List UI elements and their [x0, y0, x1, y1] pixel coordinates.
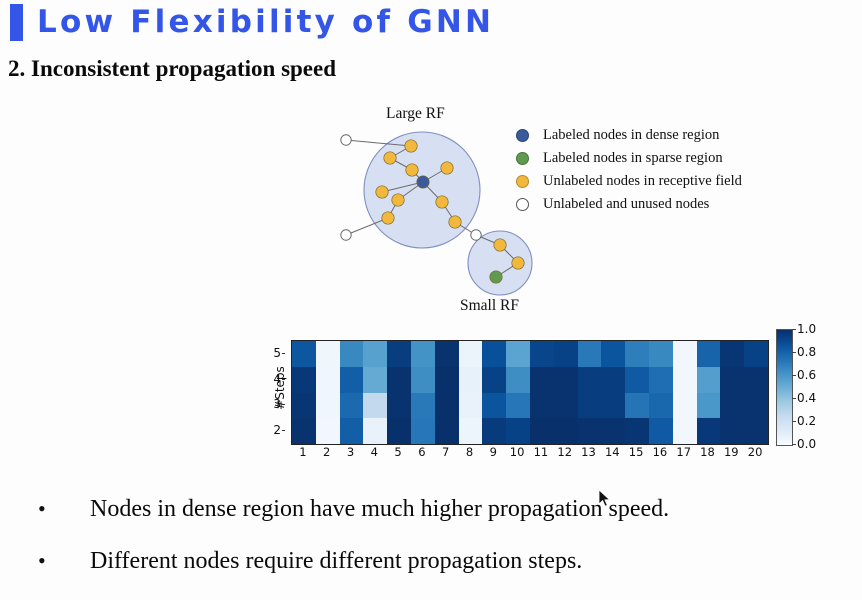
heatmap-cell [316, 418, 340, 444]
heatmap-x-tick: 17 [672, 445, 696, 459]
heatmap-y-tick-mark [282, 353, 285, 354]
colorbar-ticks: 1.00.80.60.40.20.0 [792, 329, 836, 444]
colorbar-tick-mark [792, 329, 796, 330]
heatmap-x-tick: 9 [481, 445, 505, 459]
propagation-heatmap-figure: #Steps 5432 1234567891011121314151617181… [255, 325, 855, 470]
colorbar-tick-mark [792, 444, 796, 445]
legend-item-label: Unlabeled and unused nodes [543, 196, 709, 213]
bullet-item-1: •Different nodes require different propa… [38, 546, 828, 576]
heatmap-cell [340, 367, 364, 393]
slide-title-row: Low Flexibility of GNN [10, 4, 494, 41]
heatmap-cell [411, 341, 435, 367]
colorbar-tick-label: 0.2 [797, 414, 816, 428]
heatmap-cell [578, 418, 602, 444]
page-title: Low Flexibility of GNN [37, 4, 494, 41]
heatmap-cell [363, 393, 387, 419]
graph-node-unlabeled-receptive [494, 239, 506, 251]
legend-item-label: Unlabeled nodes in receptive field [543, 173, 742, 190]
colorbar-tick-label: 0.8 [797, 345, 816, 359]
heatmap-cell [459, 393, 483, 419]
slide-subtitle: 2. Inconsistent propagation speed [8, 56, 336, 82]
graph-node-unlabeled-receptive [384, 152, 396, 164]
heatmap-cell [316, 341, 340, 367]
heatmap-cell [625, 393, 649, 419]
heatmap-cell [387, 418, 411, 444]
heatmap-y-tick-mark [282, 379, 285, 380]
heatmap-cell [387, 341, 411, 367]
heatmap-x-tick: 1 [291, 445, 315, 459]
colorbar-tick-label: 0.4 [797, 391, 816, 405]
legend-swatch-icon [516, 175, 529, 188]
heatmap-cell [340, 418, 364, 444]
heatmap-grid [291, 340, 769, 445]
heatmap-cell [459, 367, 483, 393]
colorbar-tick-mark [792, 421, 796, 422]
heatmap-cell [316, 367, 340, 393]
graph-node-unlabeled-receptive [436, 196, 448, 208]
heatmap-x-tick: 12 [553, 445, 577, 459]
heatmap-x-tick: 14 [600, 445, 624, 459]
heatmap-x-tick: 18 [696, 445, 720, 459]
heatmap-cell [411, 393, 435, 419]
heatmap-x-tick: 11 [529, 445, 553, 459]
heatmap-cell [340, 341, 364, 367]
heatmap-cell [506, 341, 530, 367]
large-rf-label: Large RF [386, 105, 445, 123]
legend-swatch-icon [516, 198, 529, 211]
graph-node-unlabeled-receptive [406, 164, 418, 176]
heatmap-cell [506, 393, 530, 419]
heatmap-cell [744, 341, 768, 367]
heatmap-x-tick: 7 [434, 445, 458, 459]
heatmap-cell [625, 341, 649, 367]
colorbar-gradient-strip [776, 329, 793, 446]
heatmap-cell [578, 367, 602, 393]
heatmap-cell [459, 418, 483, 444]
graph-node-unlabeled-receptive [382, 212, 394, 224]
graph-node-unlabeled-receptive [405, 140, 417, 152]
heatmap-cell [292, 367, 316, 393]
heatmap-x-tick: 6 [410, 445, 434, 459]
heatmap-cell [363, 367, 387, 393]
heatmap-cell [720, 393, 744, 419]
bullet-marker-icon: • [38, 494, 90, 524]
heatmap-cell [601, 341, 625, 367]
heatmap-y-tick-mark [282, 430, 285, 431]
heatmap-cell [482, 341, 506, 367]
heatmap-cell [554, 367, 578, 393]
heatmap-x-tick: 5 [386, 445, 410, 459]
bullet-text: Nodes in dense region have much higher p… [90, 494, 669, 524]
legend-item-1: Labeled nodes in sparse region [516, 147, 742, 170]
heatmap-cell [316, 393, 340, 419]
heatmap-cell [673, 418, 697, 444]
heatmap-cell [363, 418, 387, 444]
heatmap-cell [601, 418, 625, 444]
heatmap-cell [292, 418, 316, 444]
title-accent-bar [10, 4, 23, 41]
heatmap-cell [554, 393, 578, 419]
colorbar-tick-label: 1.0 [797, 322, 816, 336]
heatmap-cell [697, 393, 721, 419]
legend-item-label: Labeled nodes in sparse region [543, 150, 723, 167]
heatmap-colorbar: 1.00.80.60.40.20.0 [776, 329, 836, 451]
heatmap-cell [530, 341, 554, 367]
legend-item-3: Unlabeled and unused nodes [516, 193, 742, 216]
slide-canvas: Low Flexibility of GNN 2. Inconsistent p… [0, 0, 862, 600]
heatmap-cell [744, 418, 768, 444]
heatmap-cell [363, 341, 387, 367]
heatmap-cell [435, 341, 459, 367]
colorbar-tick-label: 0.0 [797, 437, 816, 451]
heatmap-y-ticks: 5432 [263, 340, 285, 443]
heatmap-cell [482, 367, 506, 393]
heatmap-cell [554, 418, 578, 444]
graph-node-unlabeled-receptive [449, 216, 461, 228]
graph-legend: Labeled nodes in dense regionLabeled nod… [516, 124, 742, 216]
legend-swatch-icon [516, 152, 529, 165]
heatmap-cell [530, 393, 554, 419]
graph-node-unlabeled-unused [341, 135, 351, 145]
heatmap-cell [720, 418, 744, 444]
heatmap-cell [649, 341, 673, 367]
heatmap-cell [387, 393, 411, 419]
legend-item-label: Labeled nodes in dense region [543, 127, 719, 144]
heatmap-x-tick: 15 [624, 445, 648, 459]
heatmap-cell [482, 418, 506, 444]
heatmap-cell [435, 418, 459, 444]
heatmap-cell [530, 367, 554, 393]
heatmap-cell [578, 341, 602, 367]
heatmap-cell [411, 418, 435, 444]
heatmap-cell [720, 367, 744, 393]
bullet-text: Different nodes require different propag… [90, 546, 582, 576]
bullet-marker-icon: • [38, 546, 90, 576]
heatmap-y-tick: 2 [273, 423, 281, 437]
heatmap-cell [625, 418, 649, 444]
heatmap-x-tick: 13 [577, 445, 601, 459]
heatmap-cell [340, 393, 364, 419]
heatmap-cell [673, 367, 697, 393]
heatmap-x-tick: 2 [315, 445, 339, 459]
heatmap-y-tick-mark [282, 404, 285, 405]
heatmap-x-ticks: 1234567891011121314151617181920 [291, 445, 767, 459]
heatmap-x-tick: 20 [743, 445, 767, 459]
heatmap-cell [554, 341, 578, 367]
heatmap-cell [506, 367, 530, 393]
heatmap-cell [578, 393, 602, 419]
heatmap-x-tick: 19 [719, 445, 743, 459]
heatmap-cell [459, 341, 483, 367]
legend-item-2: Unlabeled nodes in receptive field [516, 170, 742, 193]
heatmap-cell [506, 418, 530, 444]
heatmap-cell [649, 393, 673, 419]
heatmap-cell [387, 367, 411, 393]
heatmap-cell [625, 367, 649, 393]
heatmap-cell [673, 341, 697, 367]
heatmap-x-tick: 3 [339, 445, 363, 459]
bullet-list: •Nodes in dense region have much higher … [38, 494, 828, 598]
heatmap-cell [411, 367, 435, 393]
small-rf-label: Small RF [460, 297, 519, 315]
legend-item-0: Labeled nodes in dense region [516, 124, 742, 147]
heatmap-cell [744, 393, 768, 419]
heatmap-cell [292, 341, 316, 367]
colorbar-tick-label: 0.6 [797, 368, 816, 382]
graph-node-labeled-sparse [490, 271, 502, 283]
graph-node-unlabeled-receptive [441, 162, 453, 174]
graph-node-unlabeled-receptive [376, 186, 388, 198]
colorbar-tick-mark [792, 398, 796, 399]
legend-swatch-icon [516, 129, 529, 142]
heatmap-cell [697, 367, 721, 393]
heatmap-cell [744, 367, 768, 393]
mouse-cursor-icon [598, 489, 612, 509]
heatmap-cell [720, 341, 744, 367]
heatmap-cell [435, 393, 459, 419]
graph-node-unlabeled-receptive [392, 194, 404, 206]
heatmap-cell [697, 418, 721, 444]
heatmap-cell [697, 341, 721, 367]
heatmap-cell [482, 393, 506, 419]
heatmap-x-tick: 8 [458, 445, 482, 459]
heatmap-y-tick: 4 [273, 372, 281, 386]
heatmap-cell [649, 367, 673, 393]
heatmap-y-tick: 5 [273, 346, 281, 360]
graph-node-unlabeled-unused [471, 230, 481, 240]
heatmap-cell [292, 393, 316, 419]
colorbar-tick-mark [792, 352, 796, 353]
heatmap-cell [601, 367, 625, 393]
heatmap-x-tick: 4 [362, 445, 386, 459]
heatmap-x-tick: 10 [505, 445, 529, 459]
heatmap-cell [601, 393, 625, 419]
heatmap-x-tick: 16 [648, 445, 672, 459]
graph-node-unlabeled-receptive [512, 257, 524, 269]
heatmap-cell [530, 418, 554, 444]
graph-node-labeled-dense [417, 176, 429, 188]
heatmap-cell [673, 393, 697, 419]
heatmap-y-tick: 3 [273, 397, 281, 411]
graph-node-unlabeled-unused [341, 230, 351, 240]
heatmap-cell [435, 367, 459, 393]
heatmap-cell [649, 418, 673, 444]
bullet-item-0: •Nodes in dense region have much higher … [38, 494, 828, 524]
colorbar-tick-mark [792, 375, 796, 376]
